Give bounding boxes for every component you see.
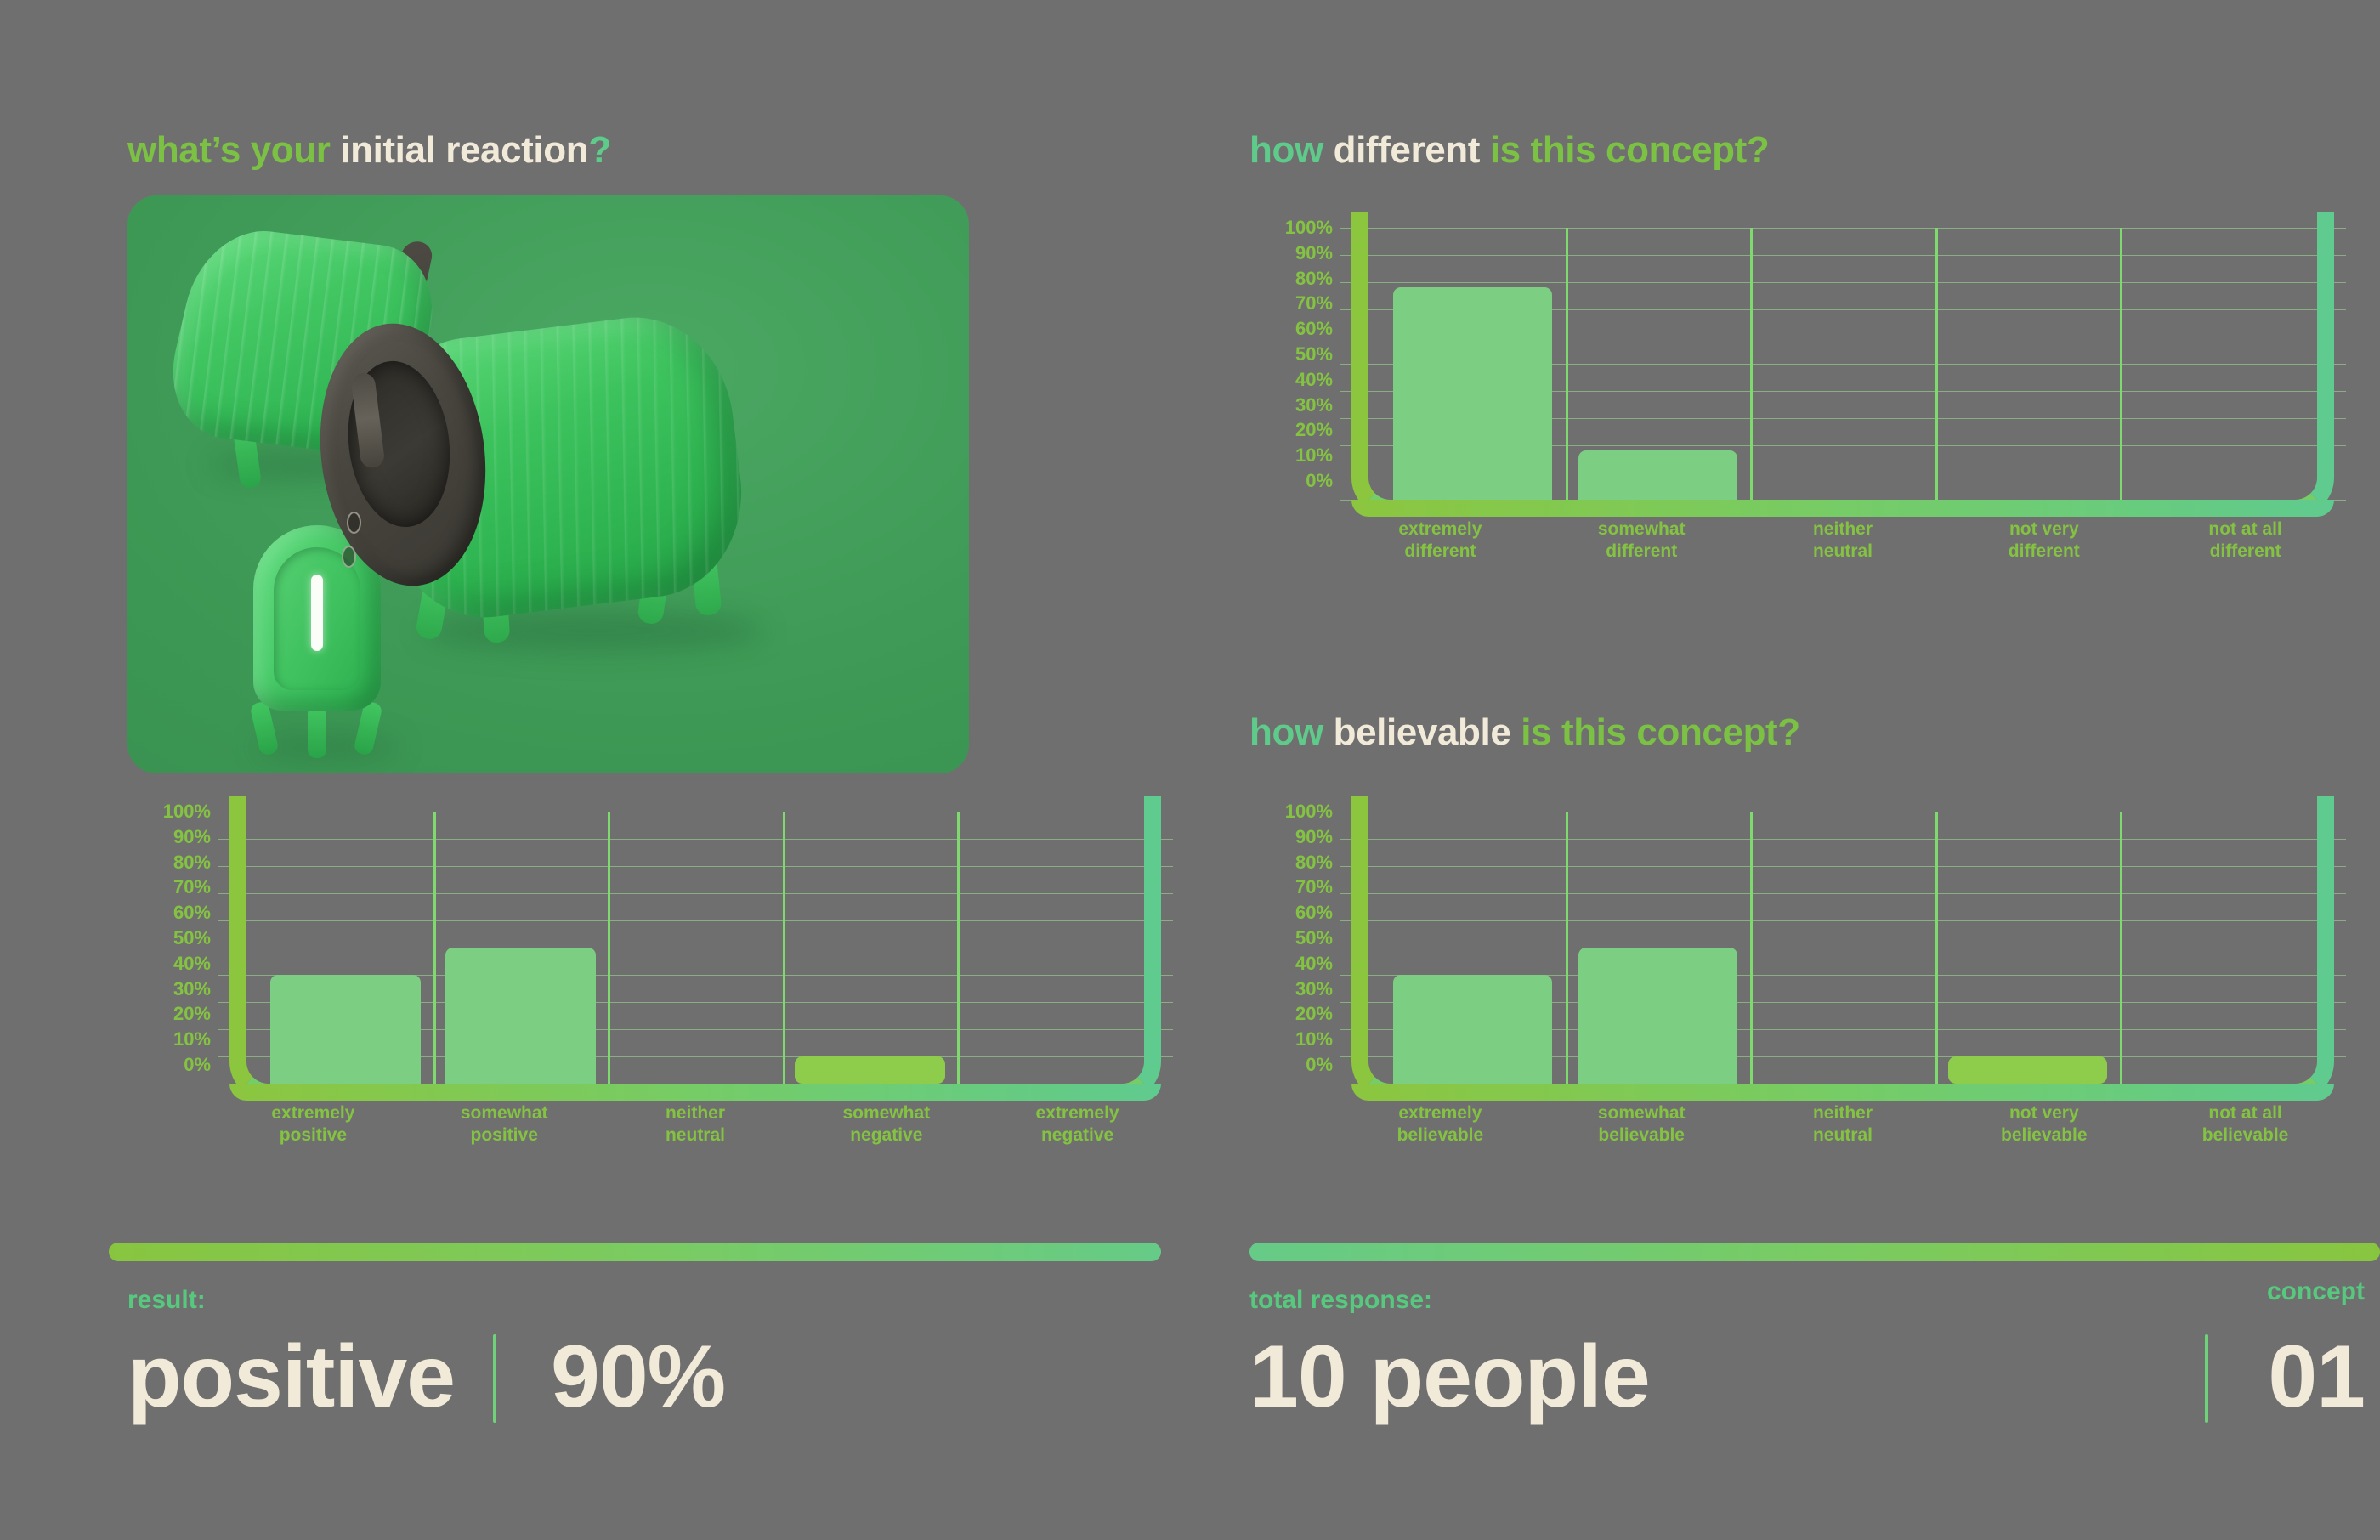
gridline-horizontal	[1340, 1084, 2346, 1084]
x-tick-label: somewhatpositive	[409, 1102, 600, 1146]
y-tick-label: 10%	[1249, 1030, 1333, 1049]
y-tick-label: 60%	[1249, 903, 1333, 922]
bar-slot	[1750, 228, 1935, 500]
title-part-3: ?	[588, 129, 610, 171]
y-tick-label: 90%	[1249, 244, 1333, 263]
bar-slot	[783, 812, 958, 1084]
chart-how-different: 100%90%80%70%60%50%40%30%20%10%0% extrem…	[1249, 228, 2346, 593]
y-tick-label: 60%	[127, 903, 211, 922]
y-tick-label: 80%	[1249, 269, 1333, 288]
title-part-3: is this concept?	[1510, 711, 1799, 753]
y-tick-label: 50%	[127, 929, 211, 948]
title-part-3: is this concept?	[1480, 129, 1769, 171]
y-tick-label: 80%	[1249, 853, 1333, 872]
y-tick-label: 20%	[1249, 1005, 1333, 1023]
title-part-2: different	[1334, 129, 1480, 171]
x-axis-labels: extremelybelievablesomewhatbelievablenei…	[1340, 1102, 2346, 1146]
bar-slot	[1380, 228, 1566, 500]
y-axis-labels: 100%90%80%70%60%50%40%30%20%10%0%	[1249, 228, 1333, 500]
page-title-how-different: how different is this concept?	[1249, 132, 1769, 169]
x-tick-label: extremelynegative	[982, 1102, 1173, 1146]
x-tick-label: extremelybelievable	[1340, 1102, 1541, 1146]
bar-series	[1380, 812, 2305, 1084]
bar-series	[258, 812, 1132, 1084]
result-value: positive	[127, 1333, 455, 1421]
y-tick-label: 70%	[1249, 294, 1333, 313]
page-title-initial-reaction: what’s your initial reaction?	[127, 132, 611, 169]
concept-test-report-board: what’s your initial reaction?	[0, 0, 2380, 1540]
y-tick-label: 40%	[1249, 371, 1333, 389]
y-tick-label: 20%	[1249, 421, 1333, 439]
capsule-leg	[308, 705, 326, 758]
x-tick-label: somewhatbelievable	[1541, 1102, 1742, 1146]
y-tick-label: 90%	[1249, 828, 1333, 846]
bar	[445, 948, 596, 1084]
gridline-horizontal	[218, 1084, 1173, 1084]
x-tick-label: extremelydifferent	[1340, 518, 1541, 562]
y-tick-label: 100%	[127, 802, 211, 821]
y-tick-label: 30%	[1249, 980, 1333, 999]
x-axis-labels: extremelypositivesomewhatpositiveneither…	[218, 1102, 1173, 1146]
x-tick-label: extremelypositive	[218, 1102, 409, 1146]
y-tick-label: 50%	[1249, 929, 1333, 948]
x-tick-label: neitherneutral	[600, 1102, 791, 1146]
result-caption: result:	[127, 1288, 206, 1313]
bar-slot	[957, 812, 1132, 1084]
y-tick-label: 90%	[127, 828, 211, 846]
x-tick-label: somewhatnegative	[790, 1102, 982, 1146]
title-part-1: how	[1249, 711, 1334, 753]
concept-caption: concept	[2267, 1279, 2365, 1305]
bar-slot	[1566, 812, 1751, 1084]
bar-slot	[1935, 228, 2121, 500]
big-speaker-button	[342, 546, 356, 568]
page-title-how-believable: how believable is this concept?	[1249, 714, 1800, 751]
y-tick-label: 30%	[1249, 396, 1333, 415]
concept-speaker-render	[127, 195, 969, 773]
x-tick-label: not verydifferent	[1943, 518, 2145, 562]
plot-area	[1340, 812, 2346, 1084]
total-response-caption: total response:	[1249, 1288, 1432, 1313]
x-tick-label: not at alldifferent	[2145, 518, 2346, 562]
x-tick-label: neitherneutral	[1742, 518, 1944, 562]
y-tick-label: 100%	[1249, 218, 1333, 237]
title-part-2: initial reaction	[340, 129, 588, 171]
y-tick-label: 10%	[127, 1030, 211, 1049]
y-axis-labels: 100%90%80%70%60%50%40%30%20%10%0%	[1249, 812, 1333, 1084]
y-tick-label: 40%	[1249, 954, 1333, 973]
bar-slot	[1750, 812, 1935, 1084]
title-part-1: what’s your	[127, 129, 340, 171]
y-tick-label: 30%	[127, 980, 211, 999]
title-part-1: how	[1249, 129, 1334, 171]
y-axis-labels: 100%90%80%70%60%50%40%30%20%10%0%	[127, 812, 211, 1084]
y-tick-label: 0%	[127, 1056, 211, 1074]
y-tick-label: 100%	[1249, 802, 1333, 821]
bar-slot	[1566, 228, 1751, 500]
y-tick-label: 10%	[1249, 446, 1333, 465]
y-tick-label: 0%	[1249, 1056, 1333, 1074]
concept-number: 01	[2268, 1333, 2365, 1421]
chart-how-believable: 100%90%80%70%60%50%40%30%20%10%0% extrem…	[1249, 812, 2346, 1177]
bar-slot	[2120, 228, 2305, 500]
bar	[795, 1056, 945, 1084]
plot-area	[218, 812, 1173, 1084]
x-axis-labels: extremelydifferentsomewhatdifferentneith…	[1340, 518, 2346, 562]
bar	[270, 975, 421, 1084]
left-column: what’s your initial reaction?	[109, 0, 1171, 1540]
y-tick-label: 70%	[1249, 878, 1333, 897]
bar-slot	[608, 812, 783, 1084]
bar-slot	[258, 812, 433, 1084]
total-response-value: 10 people	[1249, 1333, 1650, 1421]
result-percent: 90%	[551, 1333, 725, 1421]
plot-area	[1340, 228, 2346, 500]
x-tick-label: not at allbelievable	[2145, 1102, 2346, 1146]
bar-slot	[1935, 812, 2121, 1084]
y-tick-label: 40%	[127, 954, 211, 973]
y-tick-label: 0%	[1249, 472, 1333, 490]
big-speaker-button	[347, 512, 361, 534]
y-tick-label: 20%	[127, 1005, 211, 1023]
y-tick-label: 70%	[127, 878, 211, 897]
footer-separator-right	[2205, 1334, 2208, 1423]
title-part-2: believable	[1334, 711, 1511, 753]
x-tick-label: neitherneutral	[1742, 1102, 1944, 1146]
y-tick-label: 60%	[1249, 320, 1333, 338]
x-tick-label: somewhatdifferent	[1541, 518, 1742, 562]
bar	[1578, 948, 1737, 1084]
bar	[1948, 1056, 2107, 1084]
x-tick-label: not verybelievable	[1943, 1102, 2145, 1146]
bar	[1578, 450, 1737, 500]
bar	[1393, 975, 1552, 1084]
footer-divider-left	[109, 1243, 1161, 1261]
y-tick-label: 80%	[127, 853, 211, 872]
footer-divider-right	[1249, 1243, 2380, 1261]
bar-slot	[2120, 812, 2305, 1084]
gridline-horizontal	[1340, 500, 2346, 501]
bar-slot	[433, 812, 609, 1084]
y-tick-label: 50%	[1249, 345, 1333, 364]
chart-initial-reaction: 100%90%80%70%60%50%40%30%20%10%0% extrem…	[127, 812, 1173, 1177]
bar-series	[1380, 228, 2305, 500]
bar-slot	[1380, 812, 1566, 1084]
capsule-led-indicator	[311, 575, 323, 651]
right-column: how different is this concept? 100%90%80…	[1249, 0, 2380, 1540]
bar	[1393, 287, 1552, 500]
footer-separator-left	[493, 1334, 496, 1423]
